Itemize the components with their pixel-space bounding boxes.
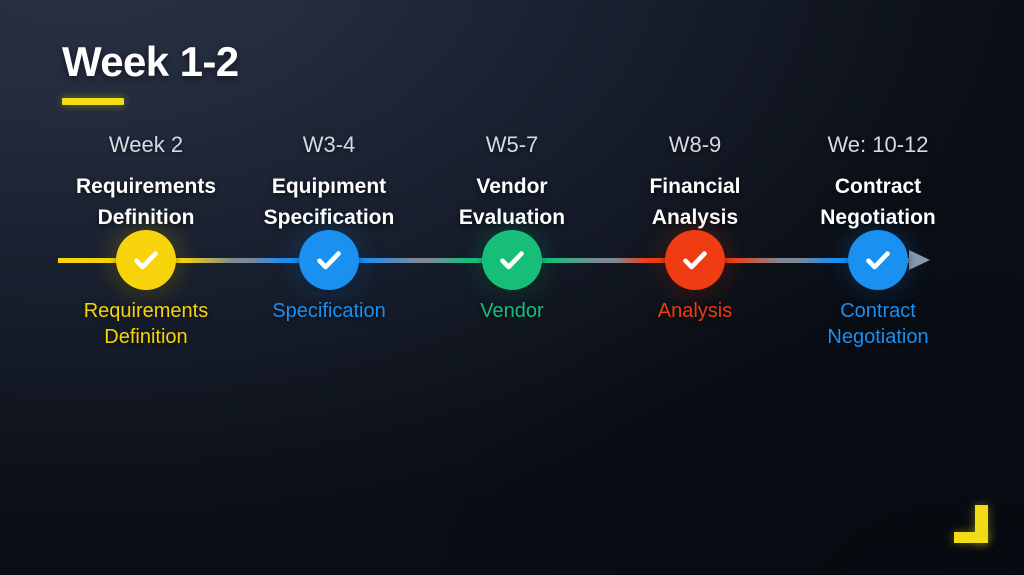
stage-title-line: Vendor bbox=[418, 172, 606, 203]
stage-title-line: Definition bbox=[52, 203, 240, 234]
stage-title: VendorEvaluation bbox=[418, 172, 606, 233]
stage-title-line: Specification bbox=[235, 203, 423, 234]
timeline-node-1[interactable] bbox=[116, 230, 176, 290]
timeline-arrow-icon bbox=[909, 250, 930, 270]
timeline-stage[interactable]: We: 10-12ContractNegotiationContractNego… bbox=[784, 132, 972, 233]
stage-caption: RequirementsDefinition bbox=[46, 298, 246, 351]
check-icon bbox=[678, 243, 712, 277]
timeline-graphic: Week 2RequirementsDefinitionRequirements… bbox=[0, 132, 1024, 417]
timeline-node-4[interactable] bbox=[665, 230, 725, 290]
stage-caption: Analysis bbox=[595, 298, 795, 324]
stage-caption-line: Requirements bbox=[46, 298, 246, 324]
stage-caption: Vendor bbox=[412, 298, 612, 324]
stage-week-label: W5-7 bbox=[418, 132, 606, 160]
stage-title-line: Financial bbox=[601, 172, 789, 203]
stage-week-label: We: 10-12 bbox=[784, 132, 972, 160]
stage-caption-line: Analysis bbox=[595, 298, 795, 324]
check-icon bbox=[312, 243, 346, 277]
check-icon bbox=[495, 243, 529, 277]
stage-title-line: Contract bbox=[784, 172, 972, 203]
timeline-stage[interactable]: W3-4EquipımentSpecificationSpecification bbox=[235, 132, 423, 233]
corner-bracket-decoration bbox=[954, 505, 988, 543]
stage-title-line: Negotiation bbox=[784, 203, 972, 234]
stage-caption-line: Definition bbox=[46, 324, 246, 350]
page-title: Week 1-2 bbox=[62, 40, 239, 84]
timeline-node-3[interactable] bbox=[482, 230, 542, 290]
stage-title: FinancialAnalysis bbox=[601, 172, 789, 233]
stage-caption-line: Specification bbox=[229, 298, 429, 324]
stage-title-line: Evaluation bbox=[418, 203, 606, 234]
stage-title-line: Requirements bbox=[52, 172, 240, 203]
title-block: Week 1-2 bbox=[62, 40, 239, 105]
check-icon bbox=[861, 243, 895, 277]
stage-week-label: W8-9 bbox=[601, 132, 789, 160]
stage-title: RequirementsDefinition bbox=[52, 172, 240, 233]
timeline-stage[interactable]: W5-7VendorEvaluationVendor bbox=[418, 132, 606, 233]
stage-caption-line: Vendor bbox=[412, 298, 612, 324]
stage-title: EquipımentSpecification bbox=[235, 172, 423, 233]
timeline-node-5[interactable] bbox=[848, 230, 908, 290]
stage-title: ContractNegotiation bbox=[784, 172, 972, 233]
slide-canvas: Week 1-2 Week 2RequirementsDefinitionReq… bbox=[0, 0, 1024, 575]
timeline-stage[interactable]: Week 2RequirementsDefinitionRequirements… bbox=[52, 132, 240, 233]
stage-week-label: Week 2 bbox=[52, 132, 240, 160]
timeline-stage[interactable]: W8-9FinancialAnalysisAnalysis bbox=[601, 132, 789, 233]
stage-title-line: Analysis bbox=[601, 203, 789, 234]
stage-title-line: Equipıment bbox=[235, 172, 423, 203]
stage-caption-line: Negotiation bbox=[778, 324, 978, 350]
title-underline-accent bbox=[62, 98, 124, 105]
stage-week-label: W3-4 bbox=[235, 132, 423, 160]
corner-bracket-horizontal bbox=[954, 532, 988, 543]
stage-caption: Specification bbox=[229, 298, 429, 324]
timeline-node-2[interactable] bbox=[299, 230, 359, 290]
check-icon bbox=[129, 243, 163, 277]
stage-caption-line: Contract bbox=[778, 298, 978, 324]
stage-caption: ContractNegotiation bbox=[778, 298, 978, 351]
